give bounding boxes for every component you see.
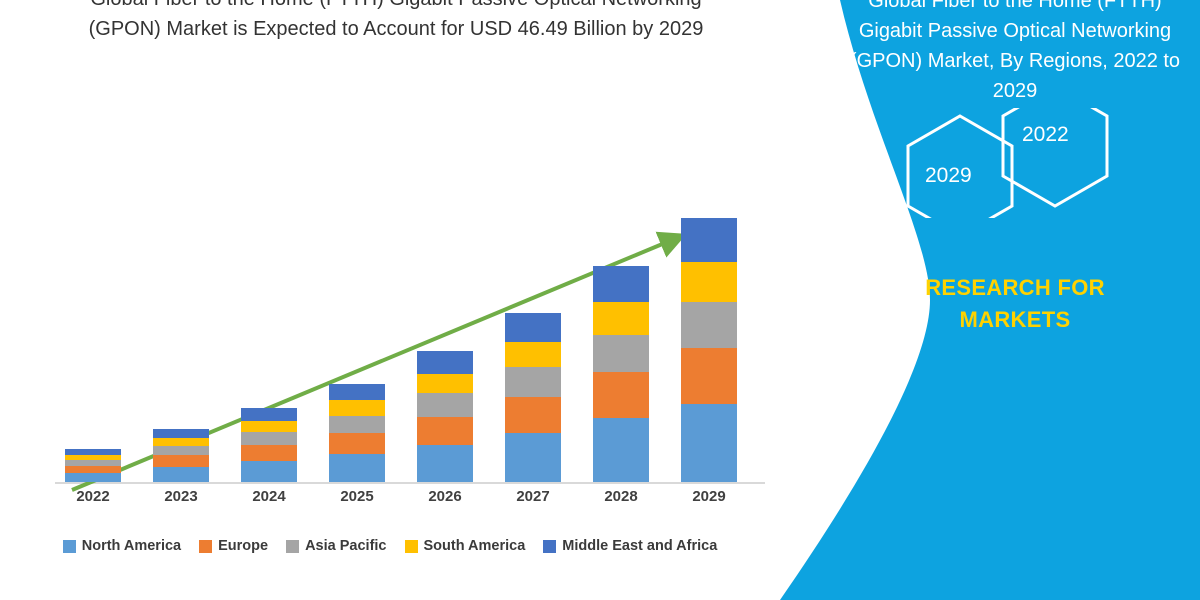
legend-item-south-america[interactable]: South America: [405, 538, 526, 554]
brand-name: RESEARCH FOR MARKETS: [840, 272, 1190, 336]
legend-swatch-icon: [199, 540, 212, 553]
legend-swatch-icon: [286, 540, 299, 553]
bar-segment-middle-east-and-africa: [681, 218, 737, 262]
bar-2022: [65, 449, 121, 482]
chart-legend: North AmericaEuropeAsia PacificSouth Ame…: [0, 538, 780, 554]
bar-segment-north-america: [329, 454, 385, 482]
x-axis-label-2022: 2022: [65, 488, 121, 505]
x-axis-label-2024: 2024: [241, 488, 297, 505]
bar-2024: [241, 408, 297, 482]
bar-segment-middle-east-and-africa: [241, 408, 297, 421]
bar-2026: [417, 351, 473, 482]
x-axis-label-2025: 2025: [329, 488, 385, 505]
legend-item-asia-pacific[interactable]: Asia Pacific: [286, 538, 386, 554]
chart-title: Global Fiber to the Home (FTTH) Gigabit …: [66, 0, 726, 44]
x-axis-label-2028: 2028: [593, 488, 649, 505]
bar-segment-north-america: [153, 467, 209, 482]
x-axis-label-2029: 2029: [681, 488, 737, 505]
hex-label-2029: 2029: [925, 164, 972, 188]
bar-segment-north-america: [593, 418, 649, 482]
hexagon-badges: 2029 2022: [900, 108, 1200, 218]
brand-line-1: RESEARCH FOR: [840, 272, 1190, 304]
bar-segment-asia-pacific: [505, 367, 561, 397]
bar-segment-south-america: [241, 421, 297, 432]
legend-swatch-icon: [405, 540, 418, 553]
bar-segment-europe: [681, 348, 737, 404]
bar-segment-asia-pacific: [329, 416, 385, 433]
bar-segment-south-america: [153, 438, 209, 446]
bar-segment-europe: [329, 433, 385, 454]
legend-label: South America: [424, 538, 526, 554]
right-branding-panel: Global Fiber to the Home (FTTH) Gigabit …: [780, 0, 1200, 600]
bar-segment-south-america: [417, 374, 473, 394]
hex-label-2022: 2022: [1022, 123, 1069, 147]
bar-segment-europe: [505, 397, 561, 433]
bar-segment-asia-pacific: [241, 432, 297, 445]
bar-segment-europe: [65, 466, 121, 473]
panel-title: Global Fiber to the Home (FTTH) Gigabit …: [840, 0, 1190, 106]
legend-swatch-icon: [543, 540, 556, 553]
x-axis-label-2027: 2027: [505, 488, 561, 505]
bar-segment-south-america: [593, 302, 649, 335]
bar-segment-north-america: [417, 445, 473, 482]
brand-line-2: MARKETS: [840, 304, 1190, 336]
bar-segment-south-america: [681, 262, 737, 302]
bar-segment-south-america: [505, 342, 561, 368]
bar-segment-north-america: [65, 473, 121, 482]
legend-label: Asia Pacific: [305, 538, 386, 554]
bar-segment-europe: [417, 417, 473, 445]
bar-segment-north-america: [241, 461, 297, 482]
bar-segment-asia-pacific: [417, 393, 473, 416]
bar-segment-north-america: [505, 433, 561, 482]
legend-item-north-america[interactable]: North America: [63, 538, 181, 554]
bar-2028: [593, 266, 649, 482]
x-axis-label-2026: 2026: [417, 488, 473, 505]
bar-2029: [681, 218, 737, 482]
legend-label: Middle East and Africa: [562, 538, 717, 554]
bar-2027: [505, 313, 561, 482]
chart-plot-area: 20222023202420252026202720282029: [0, 100, 780, 500]
legend-swatch-icon: [63, 540, 76, 553]
bar-segment-asia-pacific: [681, 302, 737, 348]
bar-2023: [153, 429, 209, 482]
bar-2025: [329, 384, 385, 482]
x-axis-line: [55, 482, 765, 484]
bar-segment-middle-east-and-africa: [153, 429, 209, 438]
bar-segment-north-america: [681, 404, 737, 482]
bar-segment-middle-east-and-africa: [593, 266, 649, 302]
bar-segment-europe: [241, 445, 297, 461]
legend-label: Europe: [218, 538, 268, 554]
bar-segment-middle-east-and-africa: [417, 351, 473, 373]
legend-item-europe[interactable]: Europe: [199, 538, 268, 554]
bar-segment-south-america: [329, 400, 385, 415]
bar-segment-asia-pacific: [593, 335, 649, 373]
bar-segment-europe: [593, 372, 649, 418]
bar-segment-europe: [153, 455, 209, 467]
bar-segment-middle-east-and-africa: [329, 384, 385, 401]
legend-label: North America: [82, 538, 181, 554]
x-axis-label-2023: 2023: [153, 488, 209, 505]
bar-segment-asia-pacific: [153, 446, 209, 455]
bar-segment-middle-east-and-africa: [505, 313, 561, 342]
legend-item-middle-east-and-africa[interactable]: Middle East and Africa: [543, 538, 717, 554]
